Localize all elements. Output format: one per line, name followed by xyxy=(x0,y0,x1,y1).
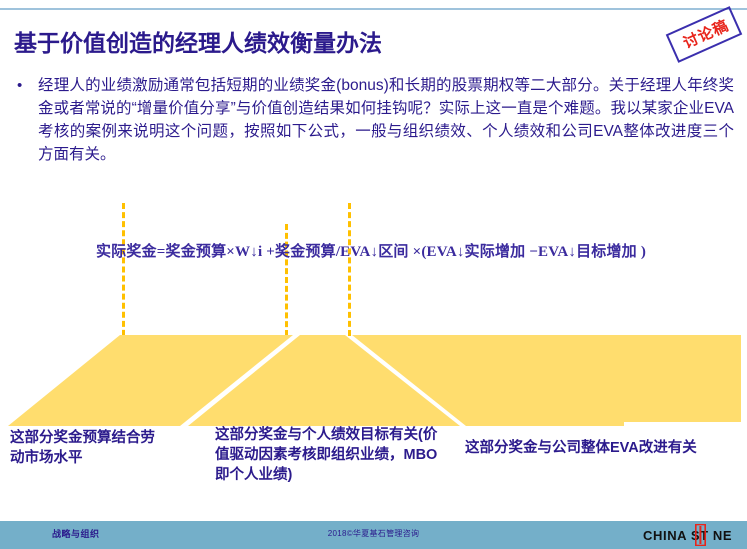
discussion-draft-stamp: 讨论稿 xyxy=(666,6,743,63)
dashed-guide-line-right xyxy=(348,203,351,336)
stamp-label: 讨论稿 xyxy=(668,7,745,64)
dashed-guide-line-left xyxy=(122,203,125,345)
bullet-body-text: 经理人的业绩激励通常包括短期的业绩奖金(bonus)和长期的股票期权等二大部分。… xyxy=(38,74,734,166)
china-stone-logo: CHINA ST NE xyxy=(643,524,739,546)
caption-individual-performance: 这部分奖金与个人绩效目标有关(价值驱动因素考核即组织业绩，MBO即个人业绩) xyxy=(215,425,445,485)
slide-canvas: 基于价值创造的经理人绩效衡量办法 讨论稿 • 经理人的业绩激励通常包括短期的业绩… xyxy=(0,0,747,549)
bullet-paragraph: • 经理人的业绩激励通常包括短期的业绩奖金(bonus)和长期的股票期权等二大部… xyxy=(12,74,734,166)
logo-wordmark: CHINA ST NE xyxy=(643,528,739,543)
caption-company-eva: 这部分奖金与公司整体EVA改进有关 xyxy=(465,438,735,458)
diagram-shapes xyxy=(0,330,747,430)
bonus-formula-text: 实际奖金=奖金预算×W↓i +奖金预算/EVA↓区间 ×(EVA↓实际增加 −E… xyxy=(96,240,646,261)
top-divider-rule xyxy=(0,8,747,10)
bullet-marker-icon: • xyxy=(12,74,38,97)
footer-copyright-label: 2018©华夏基石管理咨询 xyxy=(0,528,747,539)
caption-bonus-budget: 这部分奖金预算结合劳动市场水平 xyxy=(10,428,165,468)
slide-footer: 战略与组织 2018©华夏基石管理咨询 CHINA ST NE xyxy=(0,521,747,549)
logo-red-t-mark xyxy=(695,524,706,546)
page-title: 基于价值创造的经理人绩效衡量办法 xyxy=(14,24,614,58)
formula-container: 实际奖金=奖金预算×W↓i +奖金预算/EVA↓区间 ×(EVA↓实际增加 −E… xyxy=(62,231,680,269)
